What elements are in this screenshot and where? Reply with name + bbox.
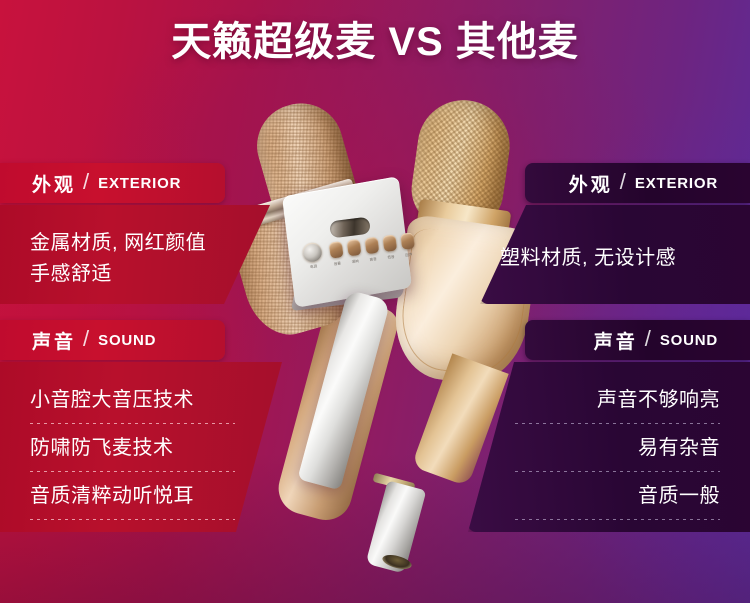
reverb-knob-icon [347, 239, 362, 256]
volume-knob-icon [329, 241, 344, 258]
right-exterior-header-en: EXTERIOR [635, 175, 718, 192]
right-sound-lines: 声音不够响亮 易有杂音 音质一般 [515, 385, 720, 520]
right-exterior-header: 外观 / EXTERIOR [525, 163, 750, 203]
echo-knob-icon [400, 232, 415, 249]
left-exterior-header-cn: 外观 [32, 170, 76, 197]
right-exterior-line-0: 塑料材质, 无设计感 [500, 243, 722, 274]
left-exterior-header-divider: / [83, 169, 89, 195]
left-sound-line-0: 小音腔大音压技术 [30, 385, 235, 415]
right-sound-line-2: 音质一般 [515, 481, 720, 511]
knob-label-2: 混响 [348, 259, 363, 266]
control-panel-display-icon [329, 217, 371, 239]
left-sound-line-1: 防啸防飞麦技术 [30, 433, 235, 463]
super-mic-handle-tip-icon [381, 552, 413, 571]
right-sound-separator-0 [515, 423, 720, 424]
super-mic-chrome-ring-icon [251, 178, 356, 226]
right-exterior-lines: 塑料材质, 无设计感 [500, 243, 722, 274]
left-sound-lines: 小音腔大音压技术 防啸防飞麦技术 音质清粹动听悦耳 [30, 385, 235, 520]
right-sound-line-1: 易有杂音 [515, 433, 720, 463]
right-sound-header-en: SOUND [660, 332, 718, 349]
left-exterior-line-1: 手感舒适 [30, 259, 245, 290]
left-exterior-header-en: EXTERIOR [98, 175, 181, 192]
right-exterior-header-cn: 外观 [569, 170, 613, 197]
super-mic-grip-icon [273, 294, 401, 526]
control-panel-edge-icon [291, 281, 405, 311]
knob-label-4: 低音 [384, 254, 399, 261]
left-sound-header-divider: / [83, 326, 89, 352]
knob-label-0: 电源 [306, 264, 321, 271]
left-exterior-header: 外观 / EXTERIOR [0, 163, 225, 203]
right-sound-header-divider: / [645, 326, 651, 352]
power-dial-icon [302, 242, 323, 263]
super-mic-handle-ring-icon [373, 473, 416, 493]
right-sound-header-cn: 声音 [594, 327, 638, 354]
other-mic-head-icon [406, 94, 515, 236]
other-mic-band-icon [417, 199, 512, 238]
knob-label-1: 音量 [330, 261, 345, 268]
control-panel-icon [282, 176, 412, 308]
left-sound-line-2: 音质清粹动听悦耳 [30, 481, 235, 511]
right-sound-separator-2 [515, 519, 720, 520]
treble-knob-icon [365, 237, 380, 254]
comparison-infographic: 天籁超级麦 VS 其他麦 电源 音量 混响 高音 低音 回声 [0, 0, 750, 603]
page-title: 天籁超级麦 VS 其他麦 [0, 16, 750, 68]
right-sound-separator-1 [515, 471, 720, 472]
left-sound-separator-1 [30, 471, 235, 472]
knob-label-3: 高音 [366, 257, 381, 264]
right-sound-line-0: 声音不够响亮 [515, 385, 720, 415]
left-sound-separator-0 [30, 423, 235, 424]
super-mic-handle-lower-icon [366, 480, 427, 573]
left-exterior-line-0: 金属材质, 网红颜值 [30, 228, 245, 259]
right-exterior-header-divider: / [620, 169, 626, 195]
left-sound-header-en: SOUND [98, 332, 156, 349]
super-mic-handle-icon [297, 290, 390, 491]
knob-label-5: 回声 [402, 252, 417, 259]
left-exterior-lines: 金属材质, 网红颜值 手感舒适 [30, 228, 245, 290]
bass-knob-icon [382, 235, 397, 252]
left-sound-header-cn: 声音 [32, 327, 76, 354]
right-sound-header: 声音 / SOUND [525, 320, 750, 360]
left-sound-separator-2 [30, 519, 235, 520]
left-sound-header: 声音 / SOUND [0, 320, 225, 360]
